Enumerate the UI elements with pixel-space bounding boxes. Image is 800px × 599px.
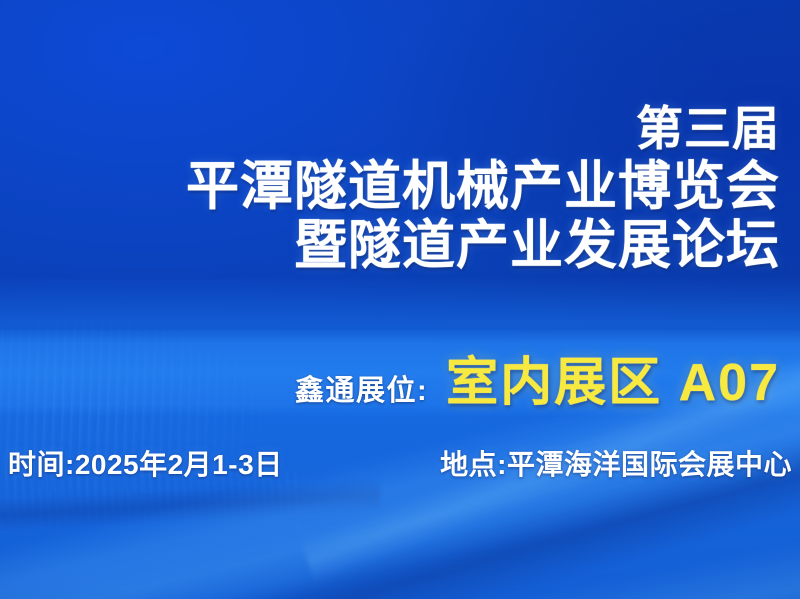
title-edition-line: 第三届 [186,104,780,155]
event-location: 地点:平潭海洋国际会展中心 [440,443,792,483]
booth-label: 鑫通展位: [295,367,428,409]
event-meta-row: 时间:2025年2月1-3日 地点:平潭海洋国际会展中心 [8,443,792,483]
title-subtitle-line: 暨隧道产业发展论坛 [186,217,780,274]
exhibition-banner: 第三届 平潭隧道机械产业博览会 暨隧道产业发展论坛 鑫通展位: 室内展区 A07… [0,0,800,599]
title-main-line: 平潭隧道机械产业博览会 [186,158,780,215]
event-date: 时间:2025年2月1-3日 [8,443,283,483]
banner-content: 第三届 平潭隧道机械产业博览会 暨隧道产业发展论坛 鑫通展位: 室内展区 A07… [0,0,800,599]
event-title-block: 第三届 平潭隧道机械产业博览会 暨隧道产业发展论坛 [186,104,780,274]
booth-info-row: 鑫通展位: 室内展区 A07 [295,340,780,415]
booth-number: 室内展区 A07 [446,340,780,415]
